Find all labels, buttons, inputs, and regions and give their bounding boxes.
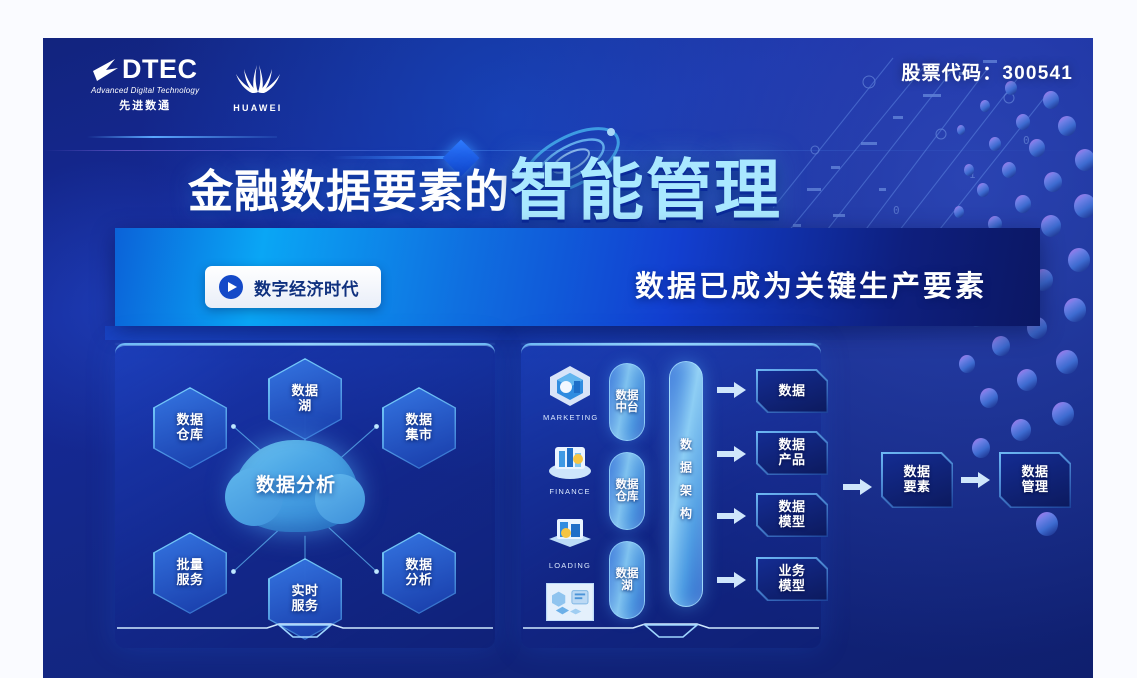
arrow-icon [961,471,991,489]
node-label-line1: 数据 [405,557,432,572]
arrow-icon [717,445,747,463]
play-icon [219,275,243,299]
center-cloud-label: 数据分析 [256,476,336,497]
server-icon [545,511,595,555]
result-label-line2: 管理 [1021,479,1048,494]
pillar-label-line2: 湖 [621,580,633,592]
huawei-wordmark: HUAWEI [233,103,282,113]
output-label-line1: 数据 [778,383,805,398]
output-data-model[interactable]: 数据模型 [756,493,828,537]
node-label-line1: 数据 [176,412,203,427]
presentation-slide: 010 10 [43,38,1093,678]
result-data-element[interactable]: 数据要素 [881,452,953,508]
output-data-product[interactable]: 数据产品 [756,431,828,475]
section-tag-label: 数字经济时代 [254,275,359,300]
source-marketing[interactable]: MARKETING [543,363,597,422]
pillar-data-midplatform[interactable]: 数据中台 [609,363,645,441]
node-label-line1: 批量 [176,557,203,572]
node-label-line2: 仓库 [176,427,203,442]
output-label-line2: 模型 [778,578,805,593]
pillar-label-line2: 中台 [616,402,639,414]
arrow-icon [843,478,873,496]
node-label-line1: 数据 [291,383,318,398]
title-part-2: 智能管理 [510,153,782,227]
dtec-chinese-name: 先进数通 [91,97,199,113]
pillar-label-line1: 数据 [616,568,639,580]
source-label: MARKETING [543,413,597,422]
output-label-line2: 产品 [778,452,805,467]
spine-label: 数据架构 [678,438,695,530]
output-label-line2: 模型 [778,514,805,529]
pillar-label-line2: 仓库 [616,491,639,503]
result-label-line1: 数据 [1021,464,1048,479]
output-data[interactable]: 数据 [756,369,828,413]
source-dashboard-thumbnail[interactable] [546,583,594,621]
source-label: FINANCE [543,487,597,496]
cube-icon [545,363,595,407]
arrow-icon [717,507,747,525]
banner-shadow [105,326,995,340]
section-tag[interactable]: 数字经济时代 [205,266,381,308]
pillar-label-line1: 数据 [616,479,639,491]
right-diagram-panel: MARKETING FINANCE LOADING [521,343,821,648]
dtec-logo: DTEC Advanced Digital Technology 先进数通 [91,56,199,113]
huawei-flower-icon [234,62,282,94]
result-label-line2: 要素 [903,479,930,494]
huawei-logo: HUAWEI [233,62,282,113]
source-loading[interactable]: LOADING [543,511,597,570]
node-label-line2: 分析 [405,572,432,587]
pillar-data-warehouse[interactable]: 数据仓库 [609,452,645,530]
center-cloud-node[interactable]: 数据分析 [233,440,359,532]
pillar-data-lake[interactable]: 数据湖 [609,541,645,619]
title-part-1: 金融数据要素的 [188,166,510,217]
node-label-line2: 服务 [176,572,203,587]
section-banner: 数字经济时代 数据已成为关键生产要素 [115,228,1040,326]
left-diagram-panel: 数据仓库 数据湖 数据集市 批量服务 实时服务 数据分析 数据分析 [115,343,495,648]
right-panel-bottom-chevron [523,620,819,642]
result-label-line1: 数据 [903,464,930,479]
output-label-line1: 数据 [778,437,805,452]
banner-headline: 数据已成为关键生产要素 [635,263,987,305]
node-label-line1: 实时 [291,583,318,598]
result-data-management[interactable]: 数据管理 [999,452,1071,508]
dtec-mark-icon [91,57,121,83]
arrow-icon [717,381,747,399]
node-label-line2: 集市 [405,427,432,442]
output-label-line1: 数据 [778,499,805,514]
output-label-line1: 业务 [778,563,805,578]
source-label: LOADING [543,561,597,570]
arrow-icon [717,571,747,589]
node-label-line2: 服务 [291,598,318,613]
pillar-label-line1: 数据 [616,390,639,402]
spine-data-architecture[interactable]: 数据架构 [669,361,703,607]
dtec-tagline: Advanced Digital Technology [91,86,199,95]
node-label-line1: 数据 [405,412,432,427]
title-block: 金融数据要素的智能管理 [163,133,1063,233]
dashboard-thumbnail-icon [547,584,593,620]
bank-icon [545,437,595,481]
output-business-model[interactable]: 业务模型 [756,557,828,601]
logo-group: DTEC Advanced Digital Technology 先进数通 HU… [91,56,283,113]
source-finance[interactable]: FINANCE [543,437,597,496]
dtec-wordmark: DTEC [122,56,198,83]
node-label-line2: 湖 [298,398,312,413]
page-title: 金融数据要素的智能管理 [188,151,782,217]
stock-code-label: 股票代码：300541 [901,58,1073,85]
